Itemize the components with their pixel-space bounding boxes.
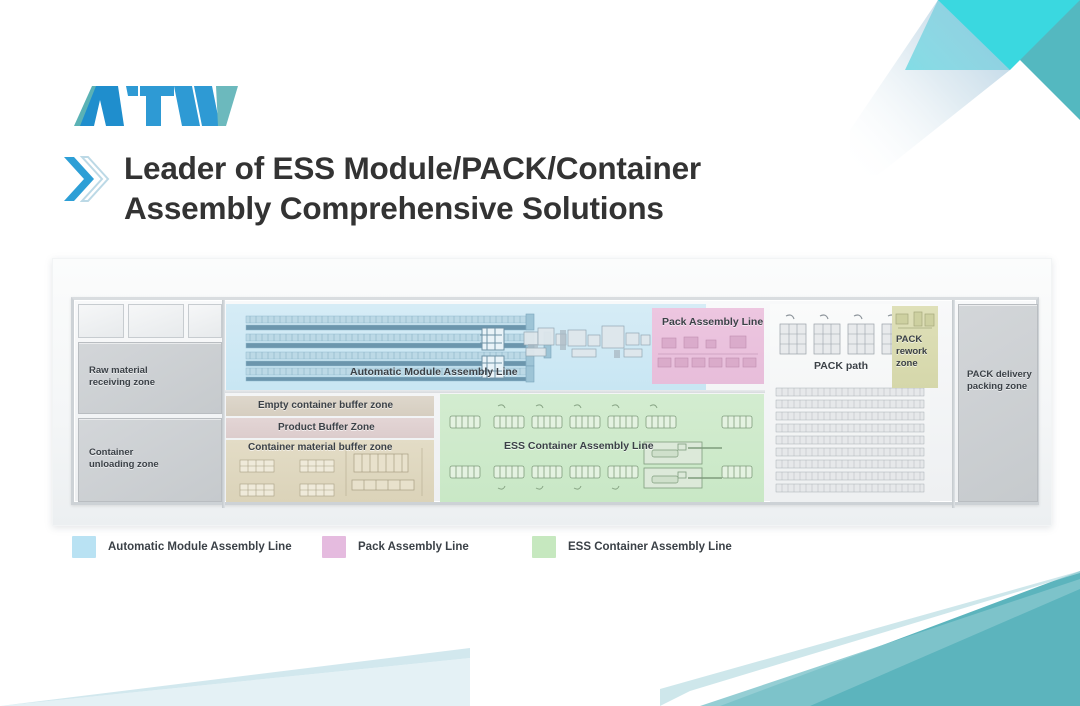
zone-label-pack-path: PACK path [814, 360, 868, 373]
legend-swatch-green [532, 536, 556, 558]
zone-empty-container-buffer[interactable]: Empty container buffer zone [226, 396, 434, 416]
decoration-bottom-right [660, 571, 1080, 706]
zone-label-raw-material-receiving: Raw material receiving zone [89, 365, 155, 389]
zone-label-ess-container-assembly-line: ESS Container Assembly Line [504, 440, 654, 453]
page-title-block: Leader of ESS Module/PACK/Container Asse… [62, 148, 942, 229]
wall-vertical-right [952, 300, 955, 508]
page-title: Leader of ESS Module/PACK/Container Asse… [124, 148, 701, 229]
zone-container-unloading[interactable]: Container unloading zone [78, 418, 222, 502]
legend-label-automatic-module-assembly-line: Automatic Module Assembly Line [108, 541, 292, 553]
corridor-room-c [188, 304, 222, 338]
zone-label-pack-assembly-line: Pack Assembly Line [662, 316, 763, 329]
zone-label-product-buffer: Product Buffer Zone [278, 422, 375, 435]
plant-outline: Raw material receiving zone Container un… [71, 297, 1039, 505]
zone-product-buffer[interactable]: Product Buffer Zone [226, 418, 434, 438]
legend-item-pack-assembly-line: Pack Assembly Line [322, 536, 532, 558]
zone-automatic-module-assembly-line[interactable]: Automatic Module Assembly Line [226, 304, 706, 390]
zone-raw-material-receiving[interactable]: Raw material receiving zone [78, 342, 222, 414]
wall-vertical-left [222, 300, 225, 508]
zone-label-container-material-buffer: Container material buffer zone [248, 442, 392, 455]
zone-ess-container-assembly-line[interactable]: ESS Container Assembly Line [440, 394, 764, 502]
legend-swatch-blue [72, 536, 96, 558]
zone-label-automatic-module-assembly-line: Automatic Module Assembly Line [350, 366, 518, 379]
corridor-room-b [128, 304, 184, 338]
zone-pack-delivery-packing[interactable]: PACK delivery packing zone [958, 304, 1038, 502]
brand-logo: ATW [66, 78, 296, 130]
zone-label-empty-container-buffer: Empty container buffer zone [258, 400, 393, 413]
zone-pack-rework[interactable]: PACK rework zone [892, 306, 938, 388]
factory-layout-diagram: Raw material receiving zone Container un… [52, 258, 1052, 526]
zone-label-pack-rework: PACK rework zone [896, 334, 927, 370]
zone-label-container-unloading: Container unloading zone [89, 447, 159, 471]
zone-pack-assembly-line[interactable]: Pack Assembly Line [652, 308, 764, 384]
legend-item-automatic-module-assembly-line: Automatic Module Assembly Line [72, 536, 322, 558]
slide-canvas: ATW Leader of ESS Module/PACK/Container … [0, 0, 1080, 706]
legend-swatch-pink [322, 536, 346, 558]
corridor-room-a [78, 304, 124, 338]
legend-item-ess-container-assembly-line: ESS Container Assembly Line [532, 536, 732, 558]
legend-label-pack-assembly-line: Pack Assembly Line [358, 541, 469, 553]
double-chevron-right-icon [62, 154, 110, 204]
decoration-bottom-left [0, 636, 470, 706]
zone-label-pack-delivery-packing: PACK delivery packing zone [967, 369, 1032, 393]
atw-logo-icon: ATW [66, 78, 296, 130]
zone-container-material-buffer[interactable]: Container material buffer zone [226, 440, 434, 502]
legend-label-ess-container-assembly-line: ESS Container Assembly Line [568, 541, 732, 553]
legend: Automatic Module Assembly Line Pack Asse… [72, 536, 732, 558]
wall-horizontal-mid [225, 390, 765, 393]
